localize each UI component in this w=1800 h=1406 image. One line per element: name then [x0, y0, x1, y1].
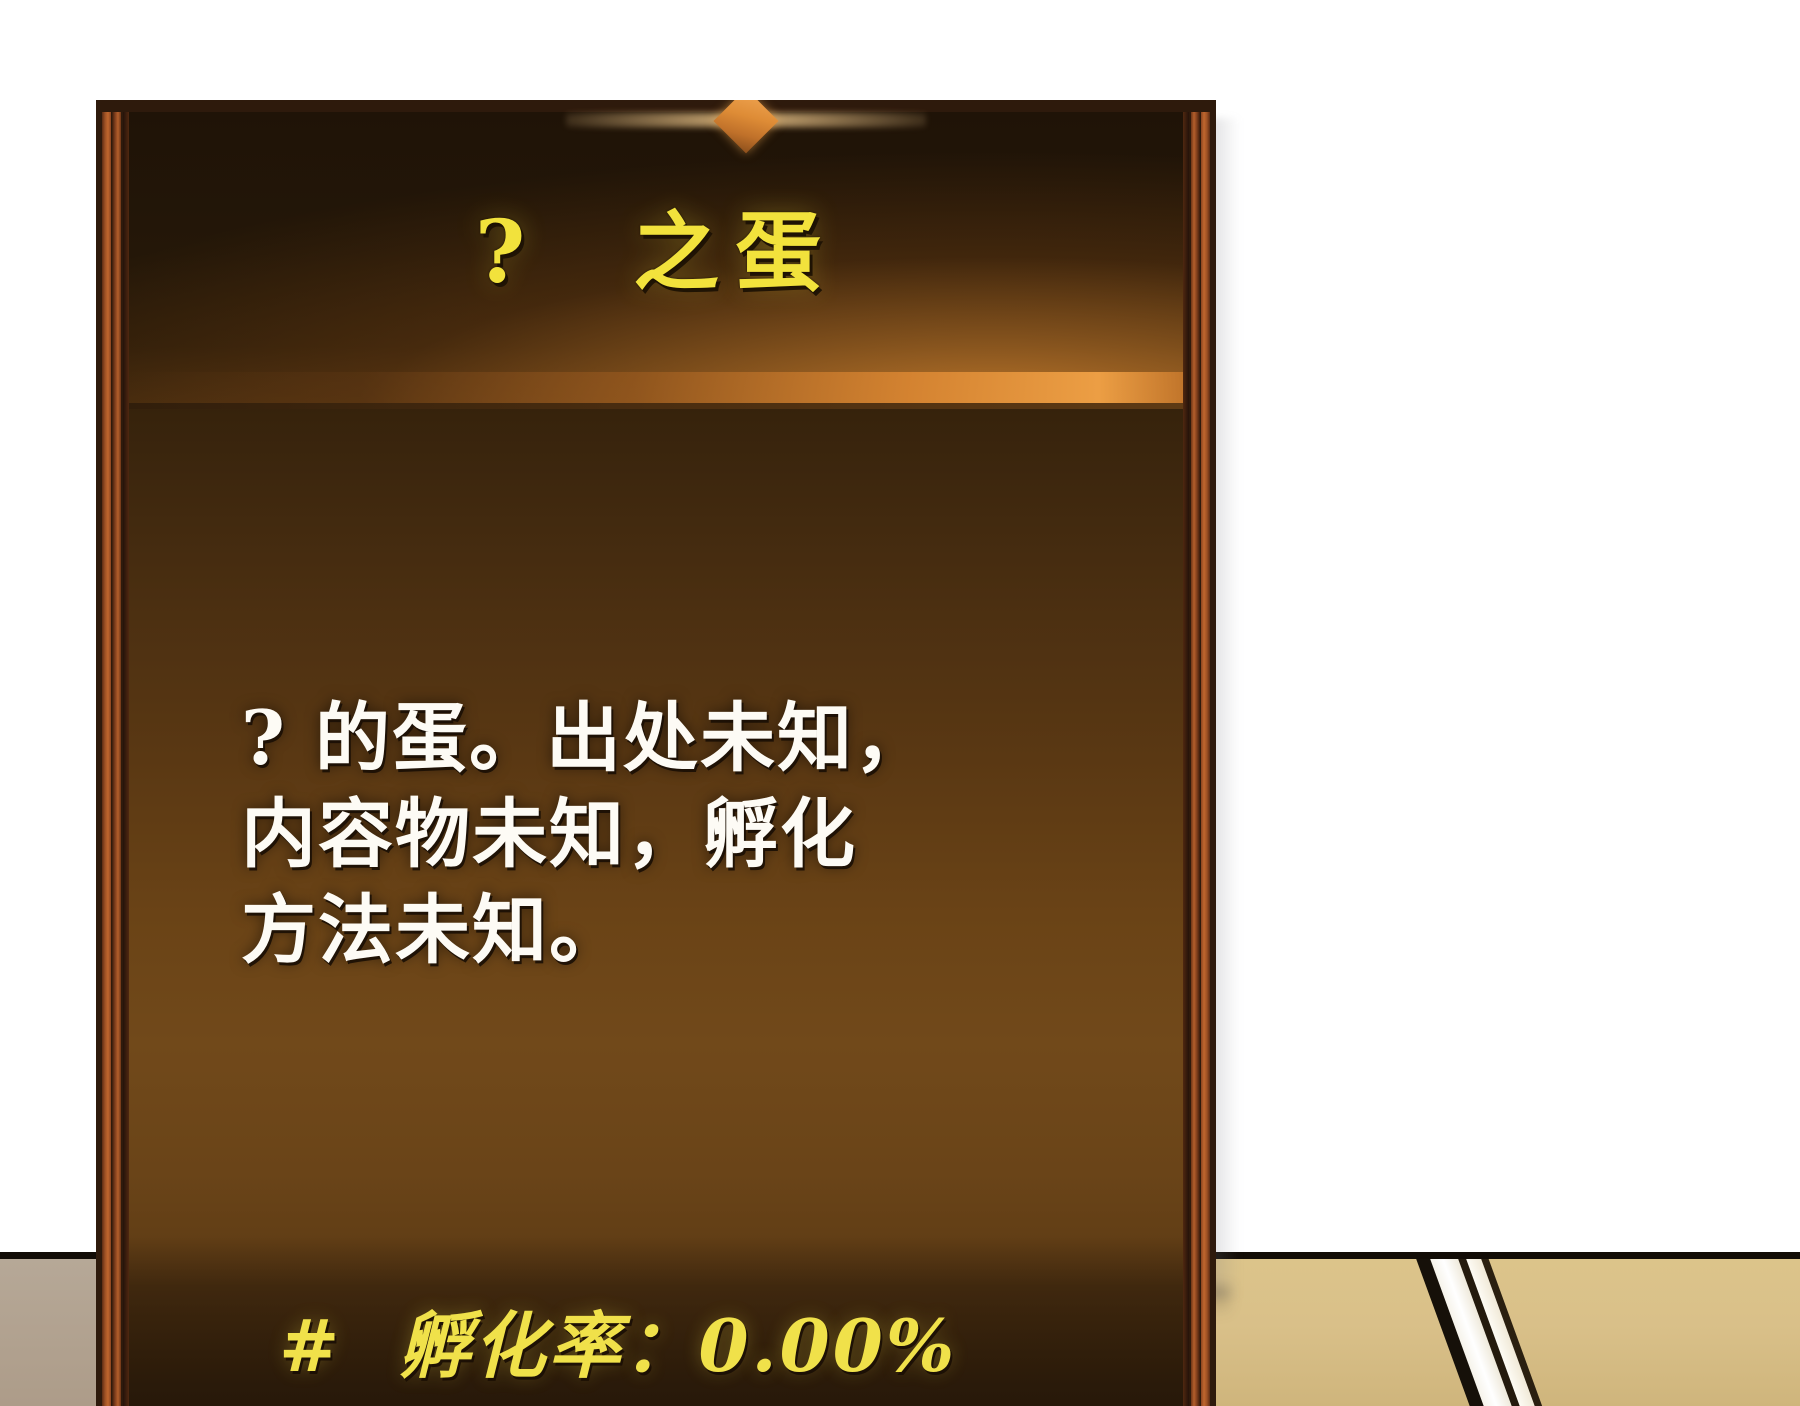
diagonal-blade-object: [1352, 1259, 1562, 1406]
panel-header-glow: [129, 372, 1183, 405]
screen: ? 之蛋 ? 的蛋。出处未知， 内容物未知，孵化 方法未知。 # 孵化率：0.0…: [0, 0, 1800, 1406]
panel-description: ? 的蛋。出处未知， 内容物未知，孵化 方法未知。: [129, 690, 1183, 978]
hatch-rate-status: # 孵化率：0.00%: [129, 1300, 1183, 1392]
panel-header-divider: [129, 403, 1183, 409]
item-info-panel[interactable]: ? 之蛋 ? 的蛋。出处未知， 内容物未知，孵化 方法未知。 # 孵化率：0.0…: [96, 100, 1216, 1406]
frame-rail-right-outer: [1201, 112, 1210, 1406]
description-line: 方法未知。: [241, 882, 1097, 978]
frame-rail-left-outer: [102, 112, 111, 1406]
frame-rail-right-inner: [1183, 112, 1189, 1406]
description-line: 内容物未知，孵化: [241, 786, 1097, 882]
frame-rail-right-mid: [1191, 112, 1200, 1406]
frame-rail-left-mid: [112, 112, 121, 1406]
panel-title: ? 之蛋: [129, 210, 1183, 296]
description-line: ? 的蛋。出处未知，: [241, 690, 1097, 786]
